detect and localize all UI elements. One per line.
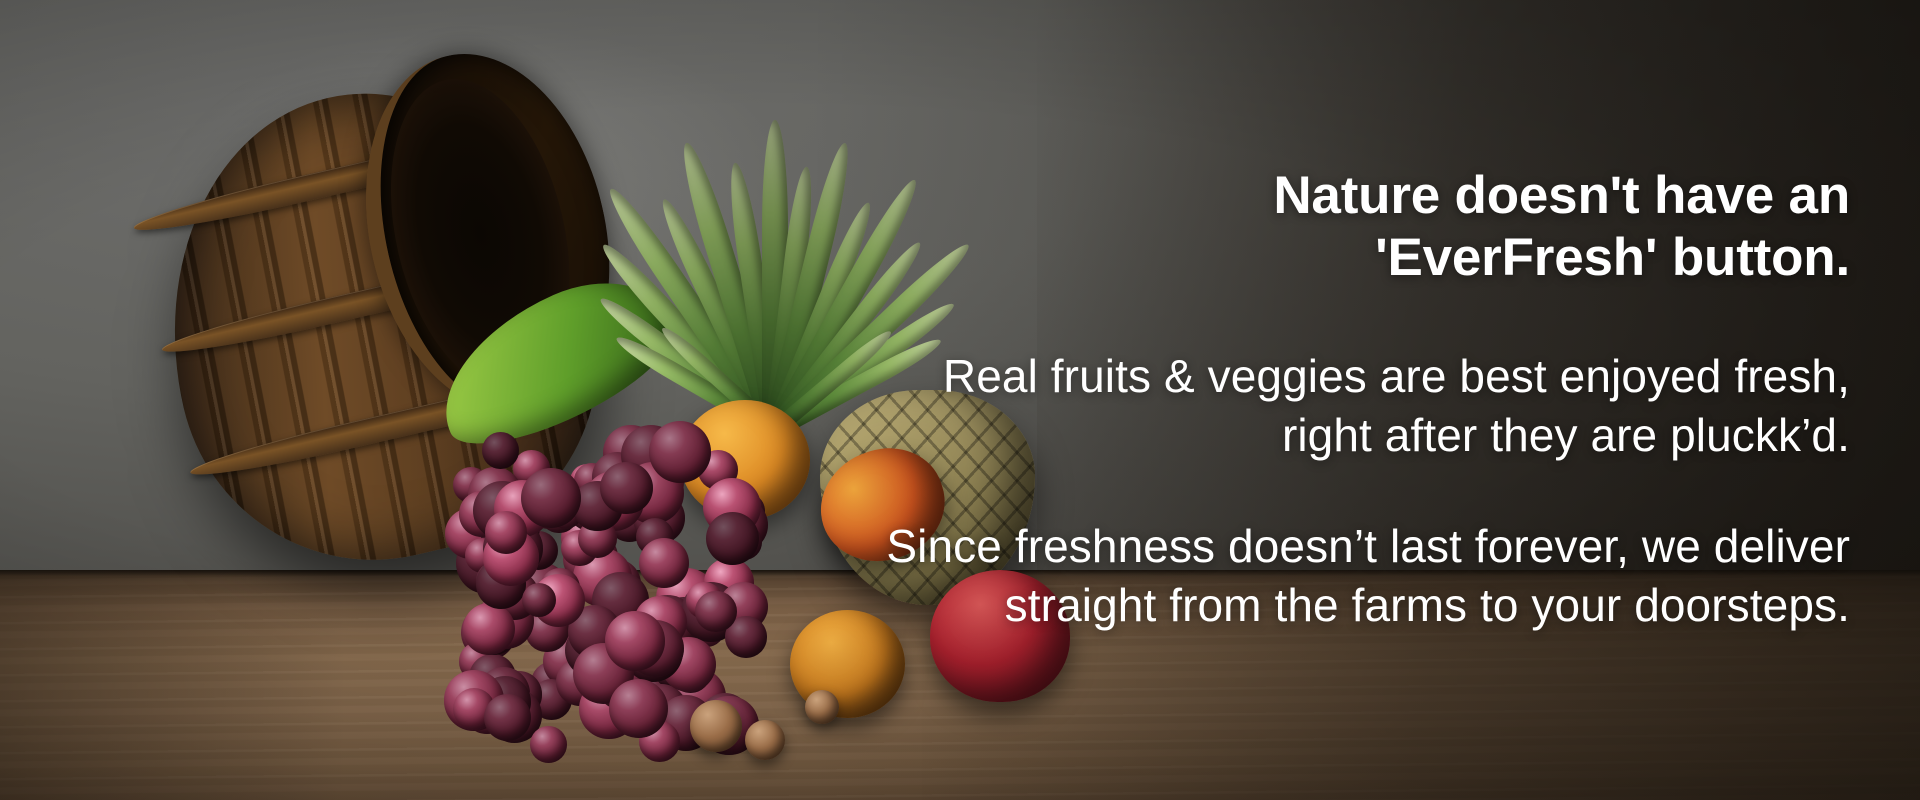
hero-banner: Nature doesn't have an 'EverFresh' butto…: [0, 0, 1920, 800]
grape: [600, 462, 652, 514]
banner-copy: Nature doesn't have an 'EverFresh' butto…: [790, 0, 1850, 800]
grape: [521, 468, 581, 528]
banner-paragraph-1: Real fruits & veggies are best enjoyed f…: [790, 347, 1850, 465]
grape: [522, 583, 556, 617]
grape: [530, 726, 567, 763]
loose-grape: [745, 720, 785, 760]
grape: [482, 432, 519, 469]
grape: [463, 603, 515, 655]
grape: [484, 694, 531, 741]
red-grape-bunch: [395, 405, 815, 775]
table-shadow-left: [0, 570, 346, 800]
banner-headline: Nature doesn't have an 'EverFresh' butto…: [790, 165, 1850, 289]
grape: [605, 611, 664, 670]
loose-grape: [690, 700, 742, 752]
grape: [639, 538, 689, 588]
grape: [649, 421, 711, 483]
banner-paragraph-2: Since freshness doesn’t last forever, we…: [790, 517, 1850, 635]
grape: [609, 679, 668, 738]
grape: [695, 591, 736, 632]
